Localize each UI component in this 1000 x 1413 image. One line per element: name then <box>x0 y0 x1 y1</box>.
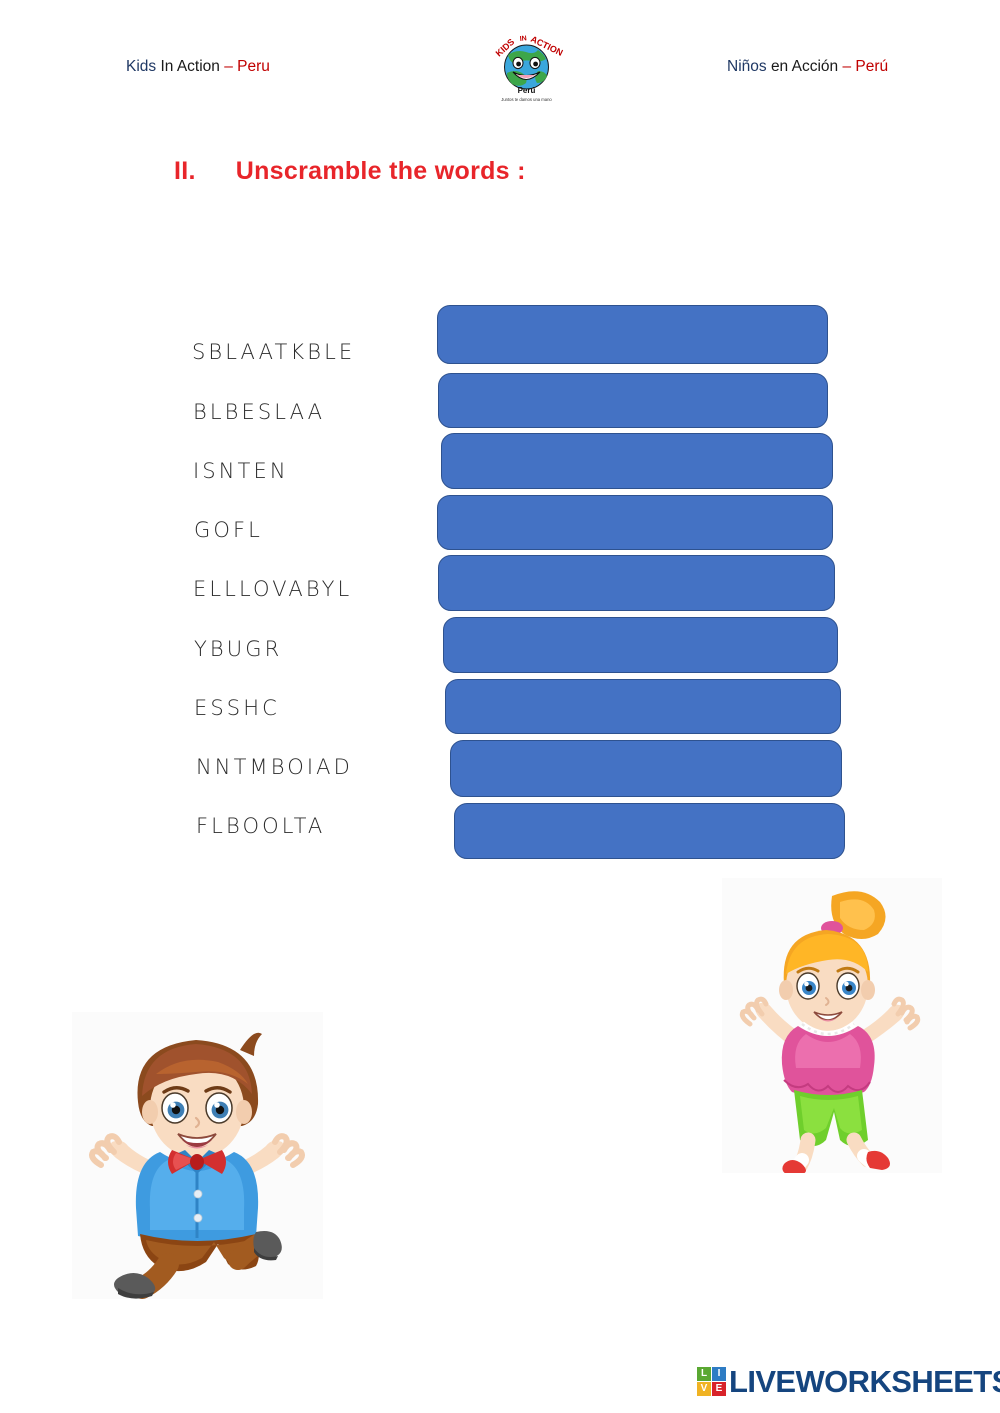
answer-input-3[interactable] <box>441 433 833 489</box>
answer-input-5[interactable] <box>438 555 835 611</box>
badge-letter-e: E <box>712 1382 726 1396</box>
answer-input-2[interactable] <box>438 373 828 428</box>
liveworksheets-logo: L I V E LIVEWORKSHEETS <box>697 1366 1000 1397</box>
cartoon-girl-image <box>722 878 942 1173</box>
badge-letter-i: I <box>712 1367 726 1381</box>
liveworksheets-badge-icon: L I V E <box>697 1367 726 1396</box>
scrambled-word: ELLLOVABYL <box>193 577 352 601</box>
answer-input-1[interactable] <box>437 305 828 364</box>
answer-input-9[interactable] <box>454 803 845 859</box>
scrambled-word: SBLAATKBLE <box>192 340 355 364</box>
scrambled-word: YBUGR <box>194 637 282 661</box>
scrambled-word: NNTMBOIAD <box>196 755 353 779</box>
liveworksheets-wordmark: LIVEWORKSHEETS <box>729 1366 1000 1397</box>
answer-input-6[interactable] <box>443 617 838 673</box>
answer-input-7[interactable] <box>445 679 841 734</box>
cartoon-boy-image <box>72 1012 323 1299</box>
badge-letter-l: L <box>697 1367 711 1381</box>
answer-input-8[interactable] <box>450 740 842 797</box>
badge-letter-v: V <box>697 1382 711 1396</box>
scrambled-word: BLBESLAA <box>193 400 325 424</box>
scrambled-word: FLBOOLTA <box>196 814 325 838</box>
scrambled-word: GOFL <box>194 518 263 542</box>
scrambled-word: ISNTEN <box>193 459 289 483</box>
scrambled-word: ESSHC <box>194 696 280 720</box>
answer-input-4[interactable] <box>437 495 833 550</box>
